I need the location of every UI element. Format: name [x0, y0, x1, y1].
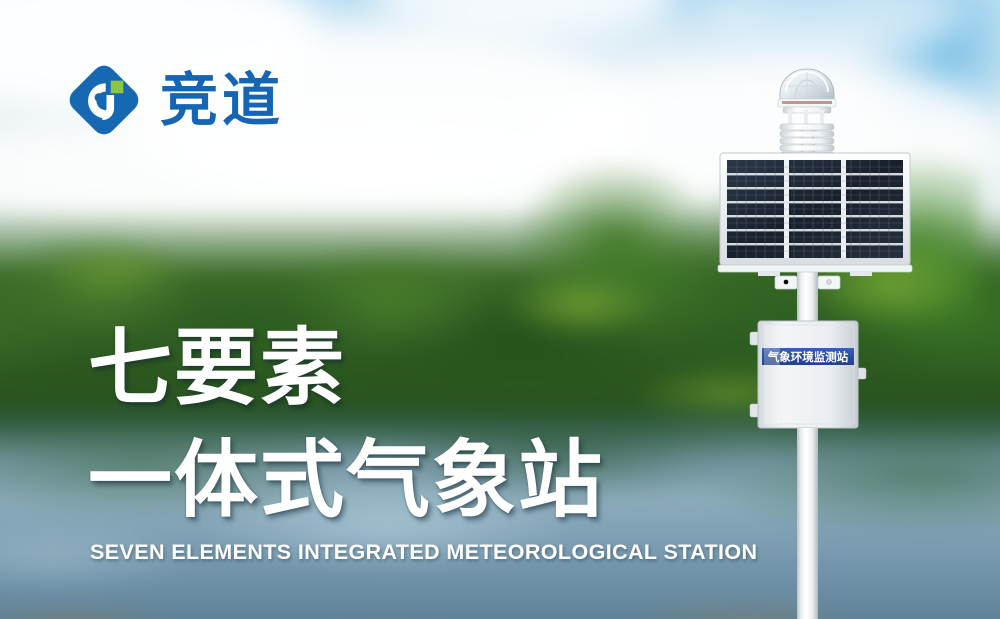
headline-subtitle: SEVEN ELEMENTS INTEGRATED METEOROLOGICAL…	[90, 540, 757, 565]
product-banner: 竞道 七要素 一体式气象站 SEVEN ELEMENTS INTEGRATED …	[0, 0, 1000, 619]
weather-station-product: 气象环境监测站	[700, 36, 930, 619]
headline-group: 七要素 一体式气象站	[88, 322, 708, 527]
headline-line-1: 七要素	[88, 322, 708, 414]
pole-highlight	[804, 428, 808, 619]
brand-name: 竞道	[160, 71, 284, 129]
louvered-radiation-shield	[780, 107, 834, 159]
ultrasonic-sensor-dome	[778, 69, 836, 107]
control-enclosure-box: 气象环境监测站	[750, 321, 866, 428]
foliage-highlight	[40, 240, 190, 300]
brand-logo: 竞道	[62, 58, 284, 142]
headline-line-2: 一体式气象站	[88, 434, 708, 526]
jingdao-diamond-logo-icon	[62, 58, 146, 142]
solar-panel	[718, 153, 912, 276]
